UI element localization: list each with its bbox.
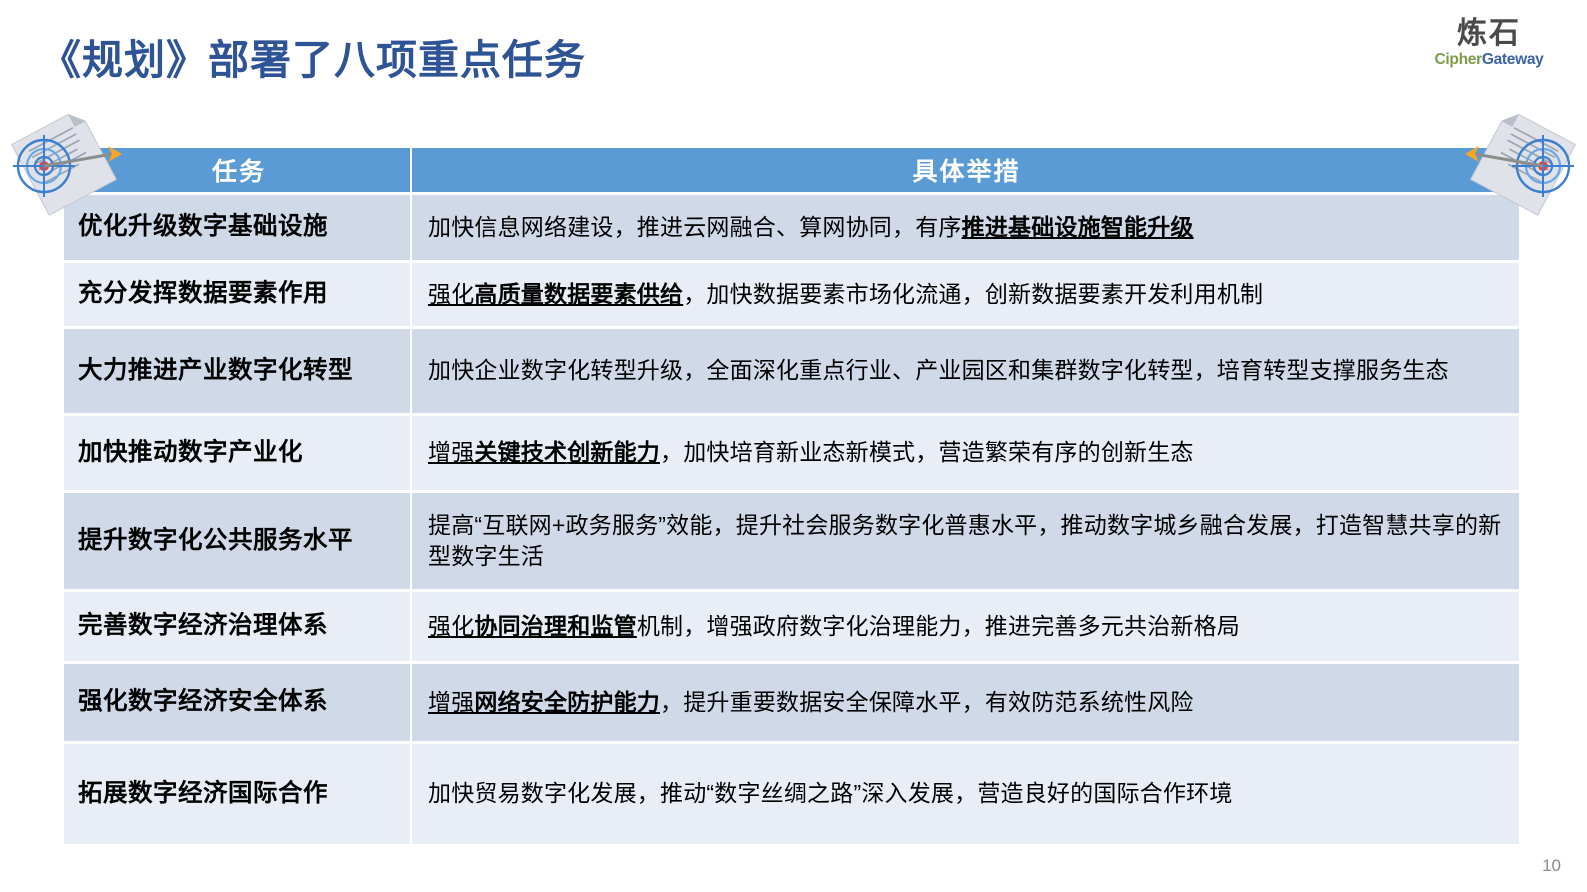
table-row[interactable]: 强化数字经济安全体系增强网络安全防护能力，提升重要数据安全保障水平，有效防范系统… <box>64 664 1519 741</box>
table-row[interactable]: 完善数字经济治理体系强化协同治理和监管机制，增强政府数字化治理能力，推进完善多元… <box>64 592 1519 661</box>
table-row[interactable]: 加快推动数字产业化增强关键技术创新能力，加快培育新业态新模式，营造繁荣有序的创新… <box>64 416 1519 490</box>
measure-cell: 强化高质量数据要素供给，加快数据要素市场化流通，创新数据要素开发利用机制 <box>410 263 1519 326</box>
column-header-measure: 具体举措 <box>410 148 1519 192</box>
measure-text: 提高“互联网+政务服务”效能，提升社会服务数字化普惠水平，推动数字城乡融合发展，… <box>428 512 1501 569</box>
measure-emphasis: 强化 <box>428 613 474 639</box>
task-name-cell: 充分发挥数据要素作用 <box>64 263 410 326</box>
measure-text: ，提升重要数据安全保障水平，有效防范系统性风险 <box>660 689 1194 715</box>
brand-logo: 炼石 CipherGateway <box>1419 18 1559 69</box>
task-name-cell: 大力推进产业数字化转型 <box>64 329 410 413</box>
task-name-cell: 拓展数字经济国际合作 <box>64 744 410 844</box>
table-row[interactable]: 大力推进产业数字化转型加快企业数字化转型升级，全面深化重点行业、产业园区和集群数… <box>64 329 1519 413</box>
logo-chinese-text: 炼石 <box>1419 18 1559 50</box>
measure-cell: 加快信息网络建设，推进云网融合、算网协同，有序推进基础设施智能升级 <box>410 195 1519 260</box>
logo-english-text: CipherGateway <box>1419 51 1559 70</box>
measure-cell: 增强关键技术创新能力，加快培育新业态新模式，营造繁荣有序的创新生态 <box>410 416 1519 490</box>
task-name-cell: 优化升级数字基础设施 <box>64 195 410 260</box>
slide-root: 《规划》部署了八项重点任务 炼石 CipherGateway <box>0 0 1587 892</box>
page-number: 10 <box>1542 856 1561 876</box>
measure-emphasis: 增强 <box>428 689 474 715</box>
measure-text: ，加快培育新业态新模式，营造繁荣有序的创新生态 <box>660 439 1194 465</box>
measure-cell: 增强网络安全防护能力，提升重要数据安全保障水平，有效防范系统性风险 <box>410 664 1519 741</box>
task-name-cell: 加快推动数字产业化 <box>64 416 410 490</box>
table-row[interactable]: 优化升级数字基础设施加快信息网络建设，推进云网融合、算网协同，有序推进基础设施智… <box>64 195 1519 260</box>
column-header-task: 任务 <box>64 148 410 192</box>
task-name-cell: 提升数字化公共服务水平 <box>64 493 410 589</box>
measure-text: 加快企业数字化转型升级，全面深化重点行业、产业园区和集群数字化转型，培育转型支撑… <box>428 357 1449 383</box>
measure-emphasis: 网络安全防护能力 <box>474 689 660 715</box>
task-name-cell: 强化数字经济安全体系 <box>64 664 410 741</box>
table-header-row: 任务 具体举措 <box>64 148 1519 192</box>
measure-emphasis: 推进基础设施智能升级 <box>962 214 1194 240</box>
measure-text: 机制，增强政府数字化治理能力，推进完善多元共治新格局 <box>637 613 1240 639</box>
table-row[interactable]: 充分发挥数据要素作用强化高质量数据要素供给，加快数据要素市场化流通，创新数据要素… <box>64 263 1519 326</box>
measure-cell: 提高“互联网+政务服务”效能，提升社会服务数字化普惠水平，推动数字城乡融合发展，… <box>410 493 1519 589</box>
page-title: 《规划》部署了八项重点任务 <box>40 26 586 86</box>
task-name-cell: 完善数字经济治理体系 <box>64 592 410 661</box>
measure-emphasis: 强化 <box>428 281 474 307</box>
measure-text: 加快贸易数字化发展，推动“数字丝绸之路”深入发展，营造良好的国际合作环境 <box>428 780 1233 806</box>
measure-emphasis: 高质量数据要素供给 <box>474 281 683 307</box>
table-body: 优化升级数字基础设施加快信息网络建设，推进云网融合、算网协同，有序推进基础设施智… <box>64 192 1519 844</box>
logo-gateway-word: Gateway <box>1482 51 1544 68</box>
measure-emphasis: 协同治理和监管 <box>474 613 636 639</box>
measure-emphasis: 增强 <box>428 439 474 465</box>
measure-text: 加快信息网络建设，推进云网融合、算网协同，有序 <box>428 214 962 240</box>
table-row[interactable]: 提升数字化公共服务水平提高“互联网+政务服务”效能，提升社会服务数字化普惠水平，… <box>64 493 1519 589</box>
measure-emphasis: 关键技术创新能力 <box>474 439 660 465</box>
measure-cell: 加快贸易数字化发展，推动“数字丝绸之路”深入发展，营造良好的国际合作环境 <box>410 744 1519 844</box>
measure-cell: 强化协同治理和监管机制，增强政府数字化治理能力，推进完善多元共治新格局 <box>410 592 1519 661</box>
table-row[interactable]: 拓展数字经济国际合作加快贸易数字化发展，推动“数字丝绸之路”深入发展，营造良好的… <box>64 744 1519 844</box>
measure-text: ，加快数据要素市场化流通，创新数据要素开发利用机制 <box>683 281 1263 307</box>
measure-cell: 加快企业数字化转型升级，全面深化重点行业、产业园区和集群数字化转型，培育转型支撑… <box>410 329 1519 413</box>
logo-cipher-word: Cipher <box>1435 51 1482 68</box>
tasks-table: 任务 具体举措 优化升级数字基础设施加快信息网络建设，推进云网融合、算网协同，有… <box>64 148 1519 844</box>
